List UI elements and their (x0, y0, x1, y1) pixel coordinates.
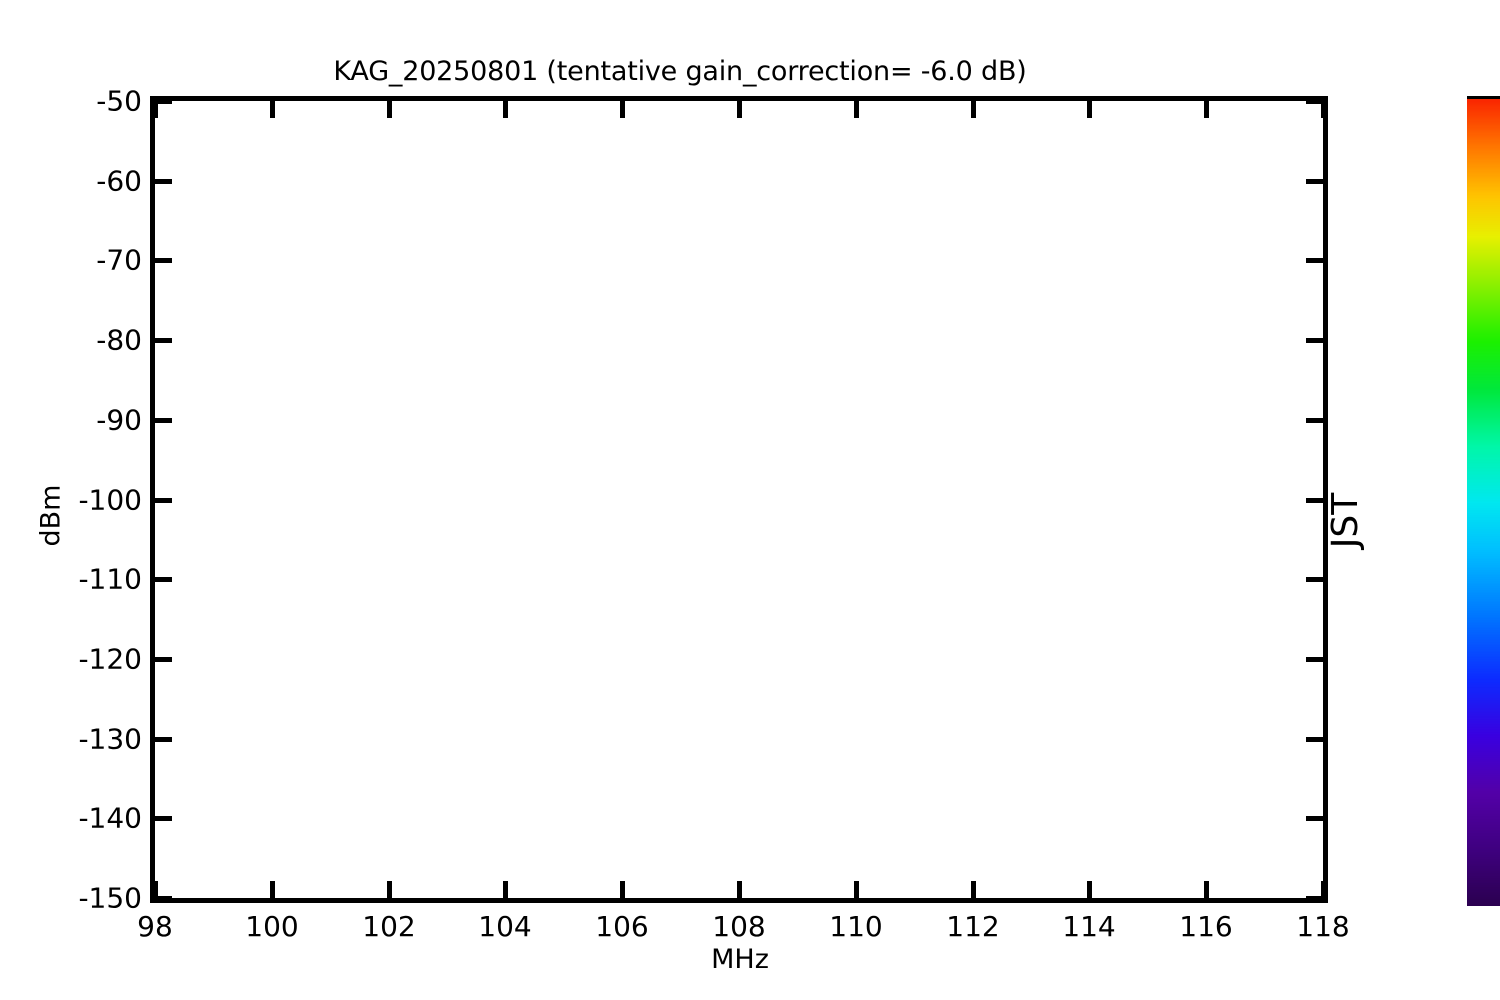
y-tick-left (155, 737, 172, 742)
y-tick-label: -60 (96, 165, 142, 198)
y-tick-right (1306, 418, 1323, 423)
x-tick-label: 106 (595, 910, 648, 943)
x-tick-label: 100 (245, 910, 298, 943)
x-tick-bottom (270, 881, 275, 898)
y-tick-left (155, 577, 172, 582)
x-tick-bottom (1204, 881, 1209, 898)
plot-frame (150, 96, 1328, 903)
x-tick-top (387, 101, 392, 118)
y-tick-label: -90 (96, 404, 142, 437)
y-tick-left (155, 657, 172, 662)
y-tick-label: -100 (78, 484, 142, 517)
x-tick-label: 118 (1296, 910, 1349, 943)
y-tick-label: -150 (78, 882, 142, 915)
x-tick-bottom (1321, 881, 1326, 898)
x-tick-bottom (854, 881, 859, 898)
x-tick-top (1087, 101, 1092, 118)
y-tick-left (155, 498, 172, 503)
x-tick-label: 110 (829, 910, 882, 943)
y-tick-label: -80 (96, 324, 142, 357)
x-tick-label: 104 (478, 910, 531, 943)
x-tick-bottom (620, 881, 625, 898)
x-tick-label: 98 (137, 910, 173, 943)
x-tick-bottom (153, 881, 158, 898)
y-tick-left (155, 418, 172, 423)
page-title: KAG_20250801 (tentative gain_correction=… (0, 56, 1360, 87)
x-tick-top (503, 101, 508, 118)
y-tick-right (1306, 498, 1323, 503)
y-tick-left (155, 816, 172, 821)
x-axis-title: MHz (0, 944, 1480, 975)
x-tick-top (153, 101, 158, 118)
y-tick-label: -140 (78, 802, 142, 835)
colorbar-title: JST (1325, 493, 1366, 548)
y-tick-label: -120 (78, 643, 142, 676)
y-tick-label: -50 (96, 85, 142, 118)
x-tick-top (1204, 101, 1209, 118)
y-tick-right (1306, 657, 1323, 662)
x-tick-top (737, 101, 742, 118)
x-tick-bottom (1087, 881, 1092, 898)
x-tick-label: 114 (1062, 910, 1115, 943)
x-tick-label: 102 (362, 910, 415, 943)
x-tick-top (270, 101, 275, 118)
y-tick-right (1306, 816, 1323, 821)
y-tick-label: -70 (96, 244, 142, 277)
x-tick-bottom (387, 881, 392, 898)
y-tick-right (1306, 338, 1323, 343)
y-tick-left (155, 258, 172, 263)
y-axis-title: dBm (35, 485, 66, 547)
y-tick-right (1306, 737, 1323, 742)
y-tick-left (155, 179, 172, 184)
x-tick-label: 116 (1179, 910, 1232, 943)
spectrum-plot-page: KAG_20250801 (tentative gain_correction=… (0, 0, 1500, 1000)
x-tick-top (971, 101, 976, 118)
x-tick-top (854, 101, 859, 118)
x-tick-bottom (737, 881, 742, 898)
y-tick-label: -130 (78, 723, 142, 756)
y-tick-right (1306, 258, 1323, 263)
x-tick-label: 112 (946, 910, 999, 943)
x-tick-top (620, 101, 625, 118)
y-tick-right (1306, 577, 1323, 582)
x-tick-label: 108 (712, 910, 765, 943)
y-tick-right (1306, 179, 1323, 184)
y-tick-left (155, 338, 172, 343)
x-tick-bottom (971, 881, 976, 898)
colorbar-gradient (1467, 96, 1500, 906)
x-tick-bottom (503, 881, 508, 898)
colorbar (1467, 96, 1500, 903)
y-tick-label: -110 (78, 563, 142, 596)
x-tick-top (1321, 101, 1326, 118)
